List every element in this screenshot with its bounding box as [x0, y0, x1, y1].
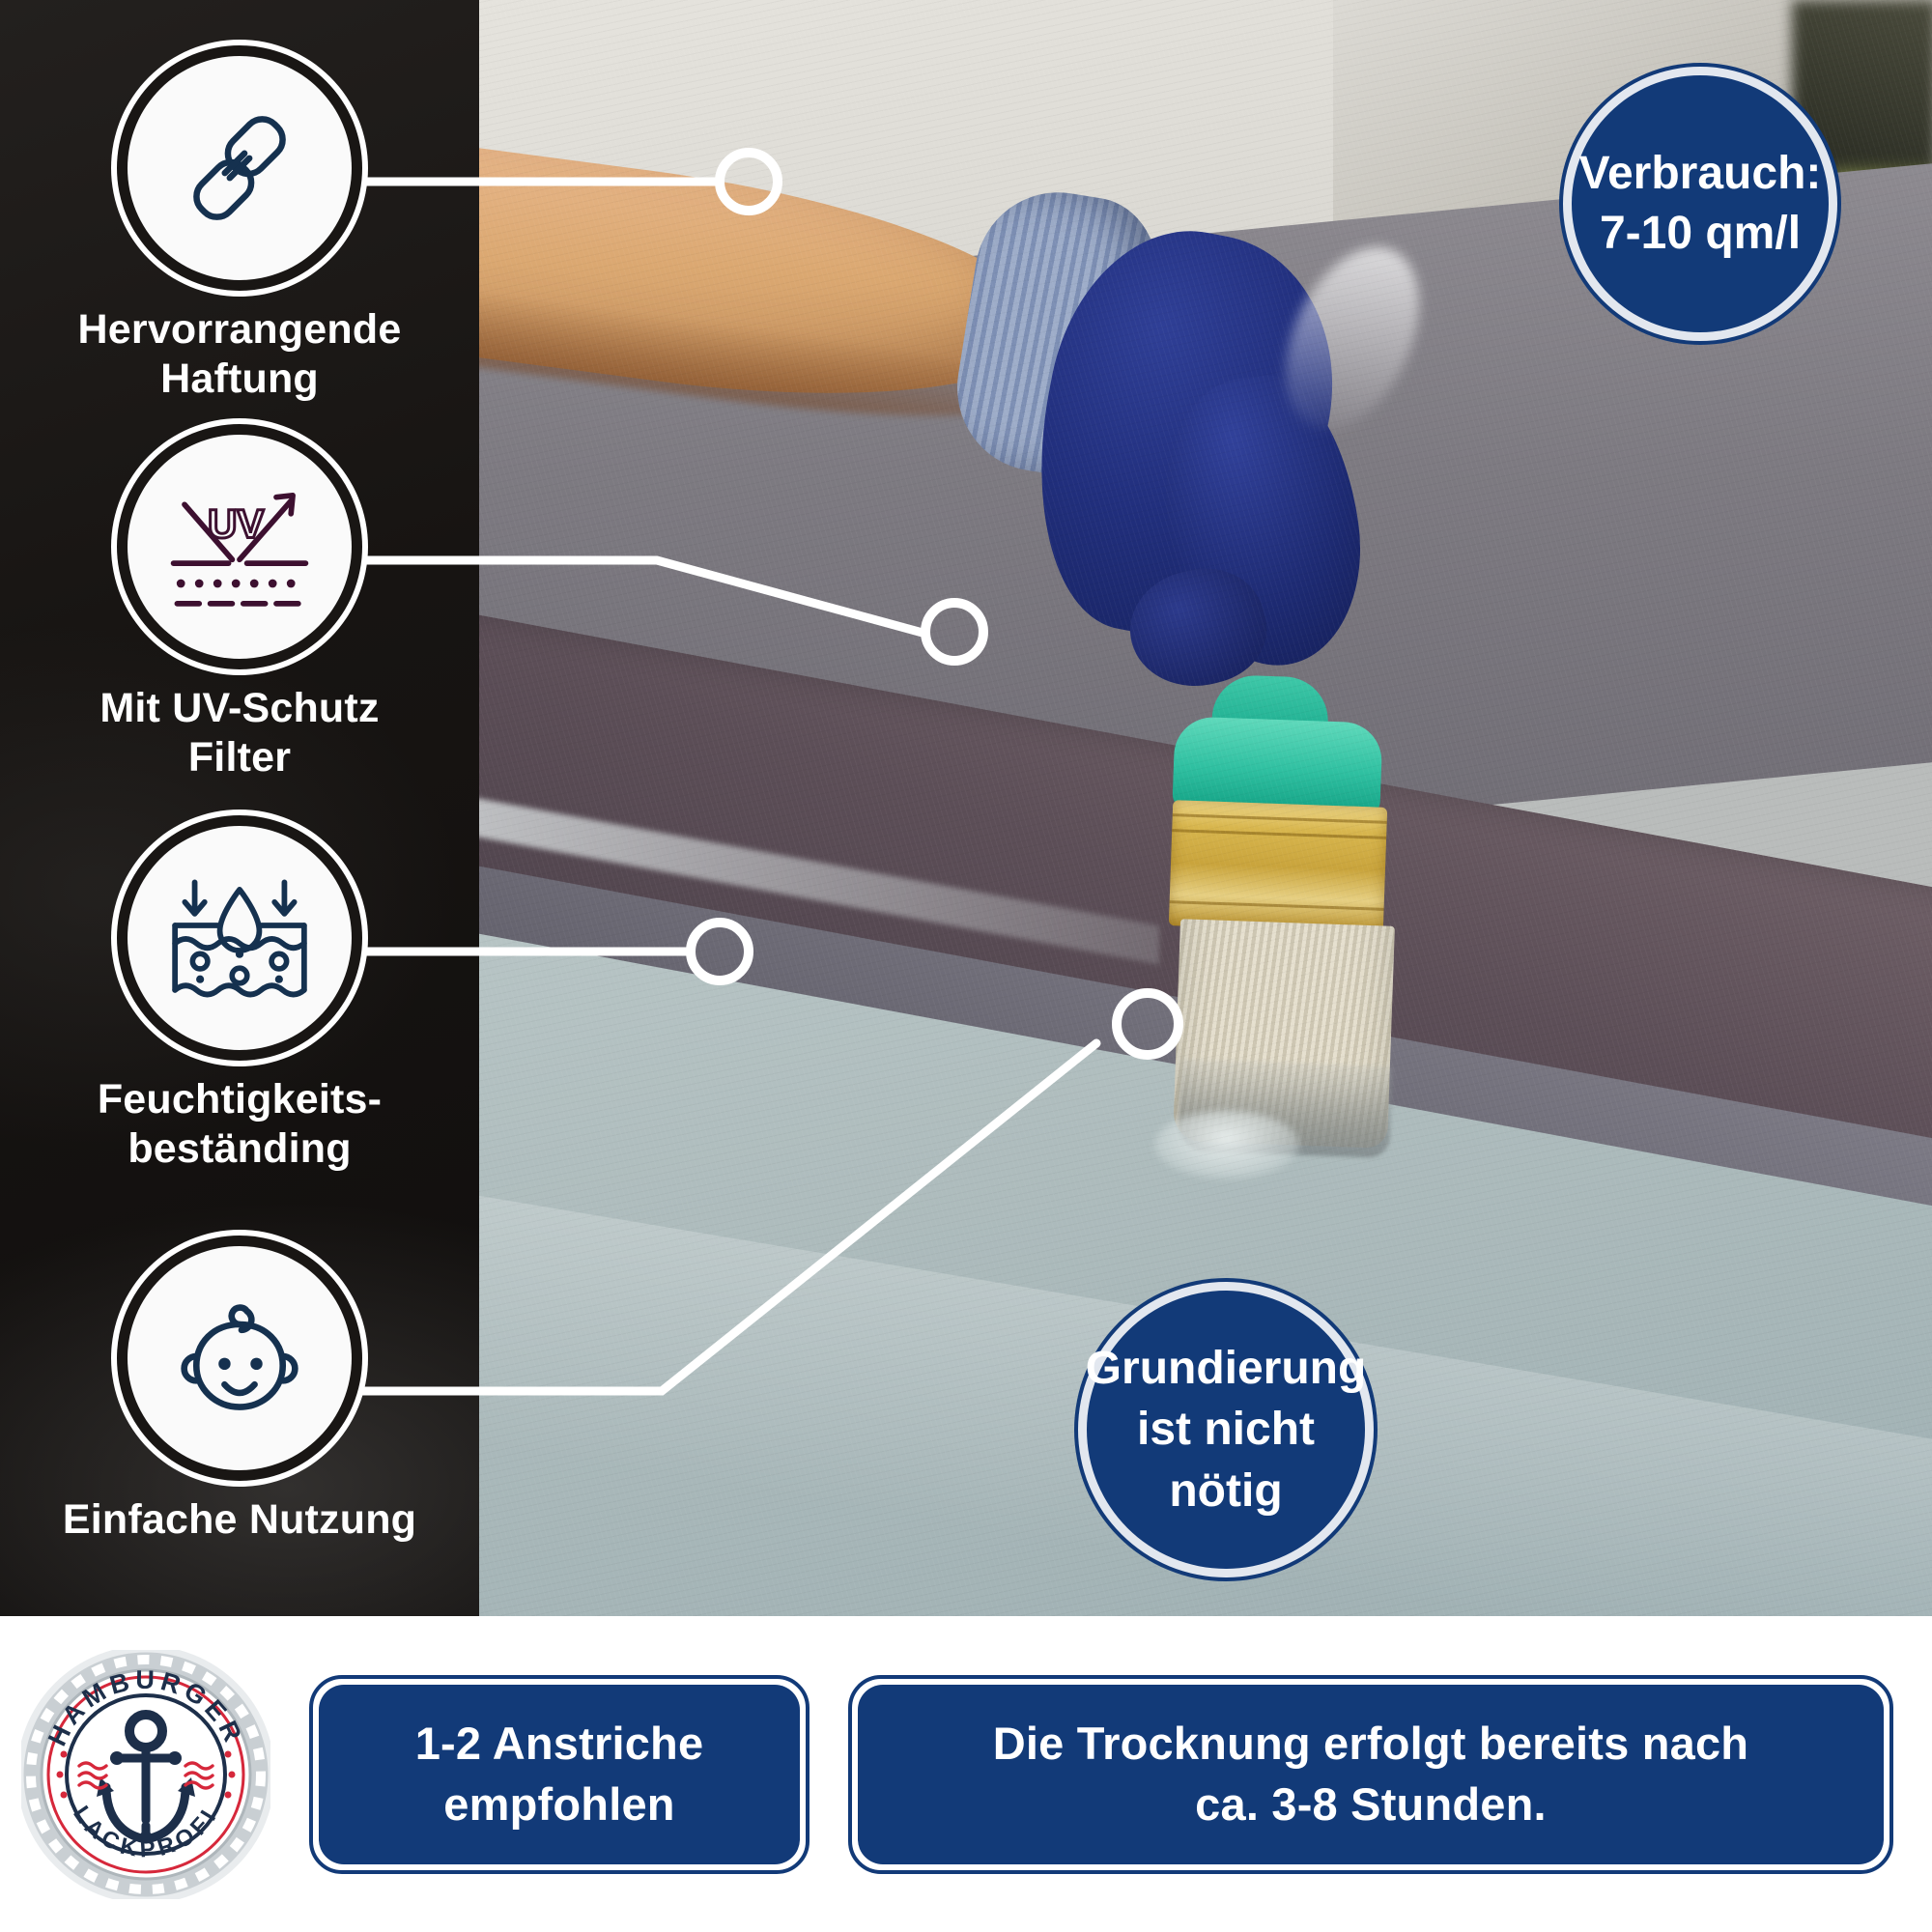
feature-moisture-resistant[interactable]: Feuchtigkeits- beständing [0, 826, 479, 1173]
pill-drying-line2: ca. 3-8 Stunden. [993, 1775, 1748, 1834]
badge-no-primer-line3: nötig [1086, 1461, 1367, 1521]
feature-uv-icon-circle: UV [128, 435, 352, 659]
badge-consumption[interactable]: Verbrauch: 7-10 qm/l [1572, 75, 1829, 332]
feature-easy-use-label: Einfache Nutzung [0, 1495, 479, 1545]
feature-moisture-icon-circle [128, 826, 352, 1050]
feature-uv-protection[interactable]: UV Mit UV-Schutz Filter [0, 435, 479, 781]
badge-consumption-line1: Verbrauch: [1579, 144, 1822, 204]
photo-fresh-paint [1154, 1111, 1299, 1179]
feature-easy-use-label-line1: Einfache Nutzung [0, 1495, 479, 1545]
pill-coats-line2: empfohlen [415, 1775, 704, 1834]
anchor-icon: HAMBURGER LACKPROFI [21, 1650, 270, 1899]
feature-uv-label: Mit UV-Schutz Filter [0, 684, 479, 781]
pill-coats-recommended-inner: 1-2 Anstriche empfohlen [319, 1685, 800, 1864]
pill-drying-time-inner: Die Trocknung erfolgt bereits nach ca. 3… [858, 1685, 1884, 1864]
uv-icon-text: UV [208, 501, 264, 547]
baby-face-icon [172, 1291, 307, 1426]
feature-moisture-label-line1: Feuchtigkeits- [0, 1075, 479, 1124]
uv-shield-icon: UV [166, 478, 313, 615]
feature-moisture-label: Feuchtigkeits- beständing [0, 1075, 479, 1173]
badge-no-primer-line1: Grundierung [1086, 1338, 1367, 1399]
footer-bar: HAMBURGER LACKPROFI [0, 1616, 1932, 1932]
feature-adhesion-label-line2: Haftung [0, 355, 479, 404]
feature-uv-label-line2: Filter [0, 733, 479, 782]
infographic-canvas: Hervorrangende Haftung [0, 0, 1932, 1932]
water-droplet-resist-icon [164, 870, 315, 1006]
badge-no-primer[interactable]: Grundierung ist nicht nötig [1087, 1291, 1365, 1569]
pill-drying-line1: Die Trocknung erfolgt bereits nach [993, 1714, 1748, 1774]
feature-adhesion-icon-circle [128, 56, 352, 280]
pill-coats-recommended[interactable]: 1-2 Anstriche empfohlen [309, 1675, 810, 1874]
chain-link-icon [177, 105, 302, 231]
feature-easy-use[interactable]: Einfache Nutzung [0, 1246, 479, 1545]
feature-moisture-label-line2: beständing [0, 1124, 479, 1174]
badge-consumption-line2: 7-10 qm/l [1579, 204, 1822, 264]
pill-coats-line1: 1-2 Anstriche [415, 1714, 704, 1774]
feature-uv-label-line1: Mit UV-Schutz [0, 684, 479, 733]
badge-no-primer-line2: ist nicht [1086, 1399, 1367, 1460]
photo-brush-ferrule [1169, 800, 1387, 933]
feature-adhesion-label-line1: Hervorrangende [0, 305, 479, 355]
feature-easy-use-icon-circle [128, 1246, 352, 1470]
brand-logo[interactable]: HAMBURGER LACKPROFI [21, 1650, 270, 1899]
pill-drying-time[interactable]: Die Trocknung erfolgt bereits nach ca. 3… [848, 1675, 1893, 1874]
feature-adhesion-label: Hervorrangende Haftung [0, 305, 479, 403]
feature-adhesion[interactable]: Hervorrangende Haftung [0, 56, 479, 403]
